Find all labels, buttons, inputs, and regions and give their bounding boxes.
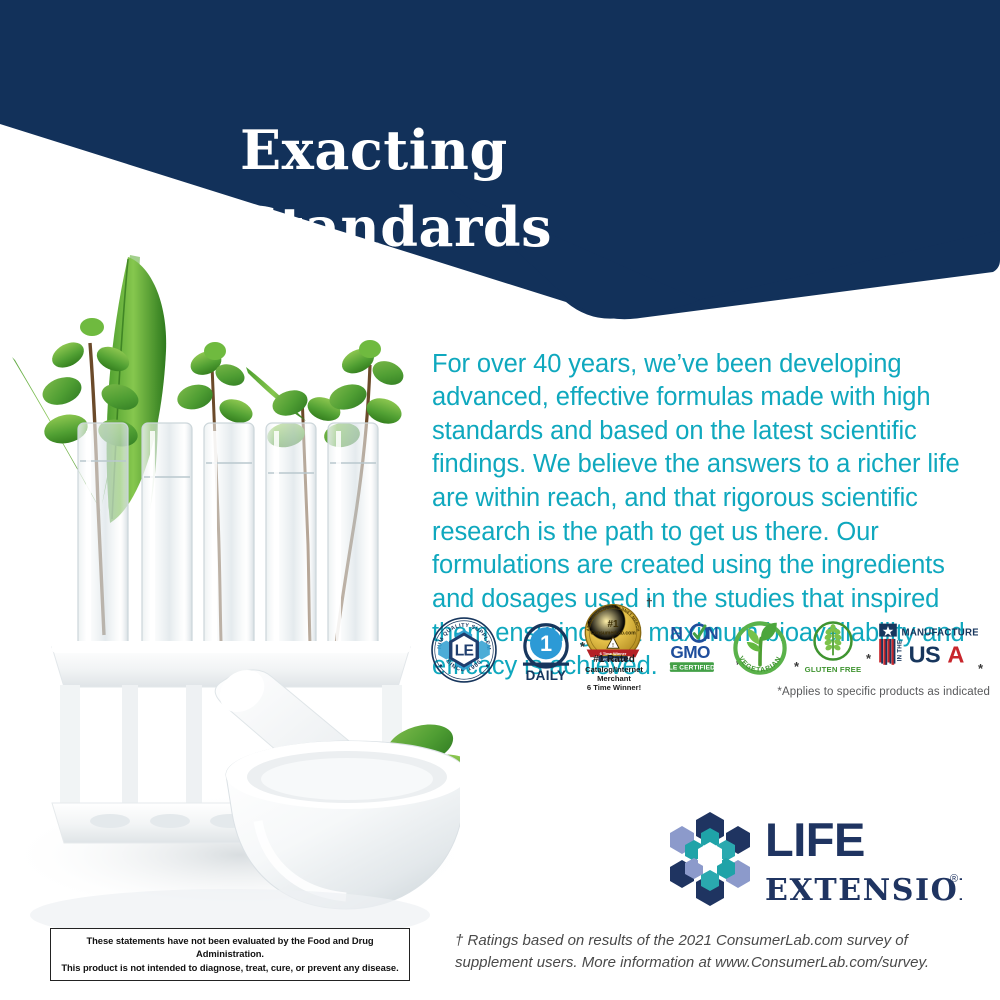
badge-vegetarian: VEGETARIAN xyxy=(730,618,790,678)
consumerlab-caption-line3: 6 Time Winner! xyxy=(573,684,655,693)
vegetarian-asterisk: * xyxy=(794,659,799,674)
logo-word-extension: EXTENSION xyxy=(765,873,962,908)
one-daily-icon: 1 DAILY xyxy=(514,620,578,682)
consumerlab-caption-line2: Catalog/Internet Merchant xyxy=(573,666,655,684)
svg-text:#1: #1 xyxy=(608,619,619,630)
badge-non-gmo: N N GMO LE CERTIFIED xyxy=(668,620,730,676)
svg-text:US: US xyxy=(909,641,941,667)
certification-badges: PREMIUM QUALITY SUPPLEMENTS SINCE 1980 L… xyxy=(430,600,990,692)
badge-one-daily: 1 DAILY xyxy=(514,620,578,682)
logo-registered-mark: ® xyxy=(950,873,958,885)
headline-line-2: Standards xyxy=(240,189,760,266)
fda-line-2: This product is not intended to diagnose… xyxy=(57,961,403,974)
vegetarian-sprout-icon: VEGETARIAN xyxy=(730,618,790,678)
page-title: Exacting Standards xyxy=(240,112,760,265)
badge-made-in-usa: MANUFACTURED IN THE US A xyxy=(878,620,978,672)
non-gmo-icon: N N GMO LE CERTIFIED xyxy=(668,620,730,676)
marketing-banner: Exacting Standards xyxy=(0,0,1000,1000)
footnote-line-2: supplement users. More information at ww… xyxy=(455,952,985,974)
gluten-free-asterisk: * xyxy=(866,651,871,666)
svg-text:1: 1 xyxy=(540,631,552,656)
life-extension-logo: LIFE EXTENSION ® xyxy=(662,808,962,912)
svg-text:A: A xyxy=(947,641,964,667)
herbs-lab-photo xyxy=(0,255,460,955)
fda-disclaimer-box: These statements have not been evaluated… xyxy=(50,928,410,981)
made-in-usa-asterisk: * xyxy=(978,661,983,676)
le-hexagon-seal-icon: PREMIUM QUALITY SUPPLEMENTS SINCE 1980 L… xyxy=(430,616,498,684)
svg-text:N: N xyxy=(670,623,682,643)
footnote-line-1: † Ratings based on results of the 2021 C… xyxy=(455,930,985,952)
svg-text:IN THE: IN THE xyxy=(897,640,904,662)
consumerlab-caption: #1 Rated Catalog/Internet Merchant 6 Tim… xyxy=(573,654,655,693)
usa-flag-icon: MANUFACTURED IN THE US A xyxy=(878,620,978,672)
consumerlab-footnote: † Ratings based on results of the 2021 C… xyxy=(455,930,985,974)
badge-le-premium-quality: PREMIUM QUALITY SUPPLEMENTS SINCE 1980 L… xyxy=(430,616,498,684)
svg-text:!: ! xyxy=(612,643,614,649)
svg-text:LE: LE xyxy=(455,642,474,659)
svg-text:ConsumerLab.com: ConsumerLab.com xyxy=(590,630,636,636)
svg-text:DAILY: DAILY xyxy=(526,668,567,682)
logo-word-life: LIFE xyxy=(765,813,865,866)
fda-line-1: These statements have not been evaluated… xyxy=(57,934,403,961)
applies-note: *Applies to specific products as indicat… xyxy=(775,686,990,698)
hexagon-mark-icon xyxy=(670,812,750,906)
svg-text:GLUTEN FREE: GLUTEN FREE xyxy=(805,665,862,674)
svg-text:GMO: GMO xyxy=(670,642,710,662)
consumerlab-dagger: † xyxy=(646,596,653,610)
badge-gluten-free: GLUTEN FREE xyxy=(802,618,864,676)
headline-line-1: Exacting xyxy=(240,118,508,182)
gluten-free-wheat-icon: GLUTEN FREE xyxy=(802,618,864,676)
svg-text:MANUFACTURED: MANUFACTURED xyxy=(902,627,978,638)
svg-text:LE CERTIFIED: LE CERTIFIED xyxy=(669,665,715,672)
